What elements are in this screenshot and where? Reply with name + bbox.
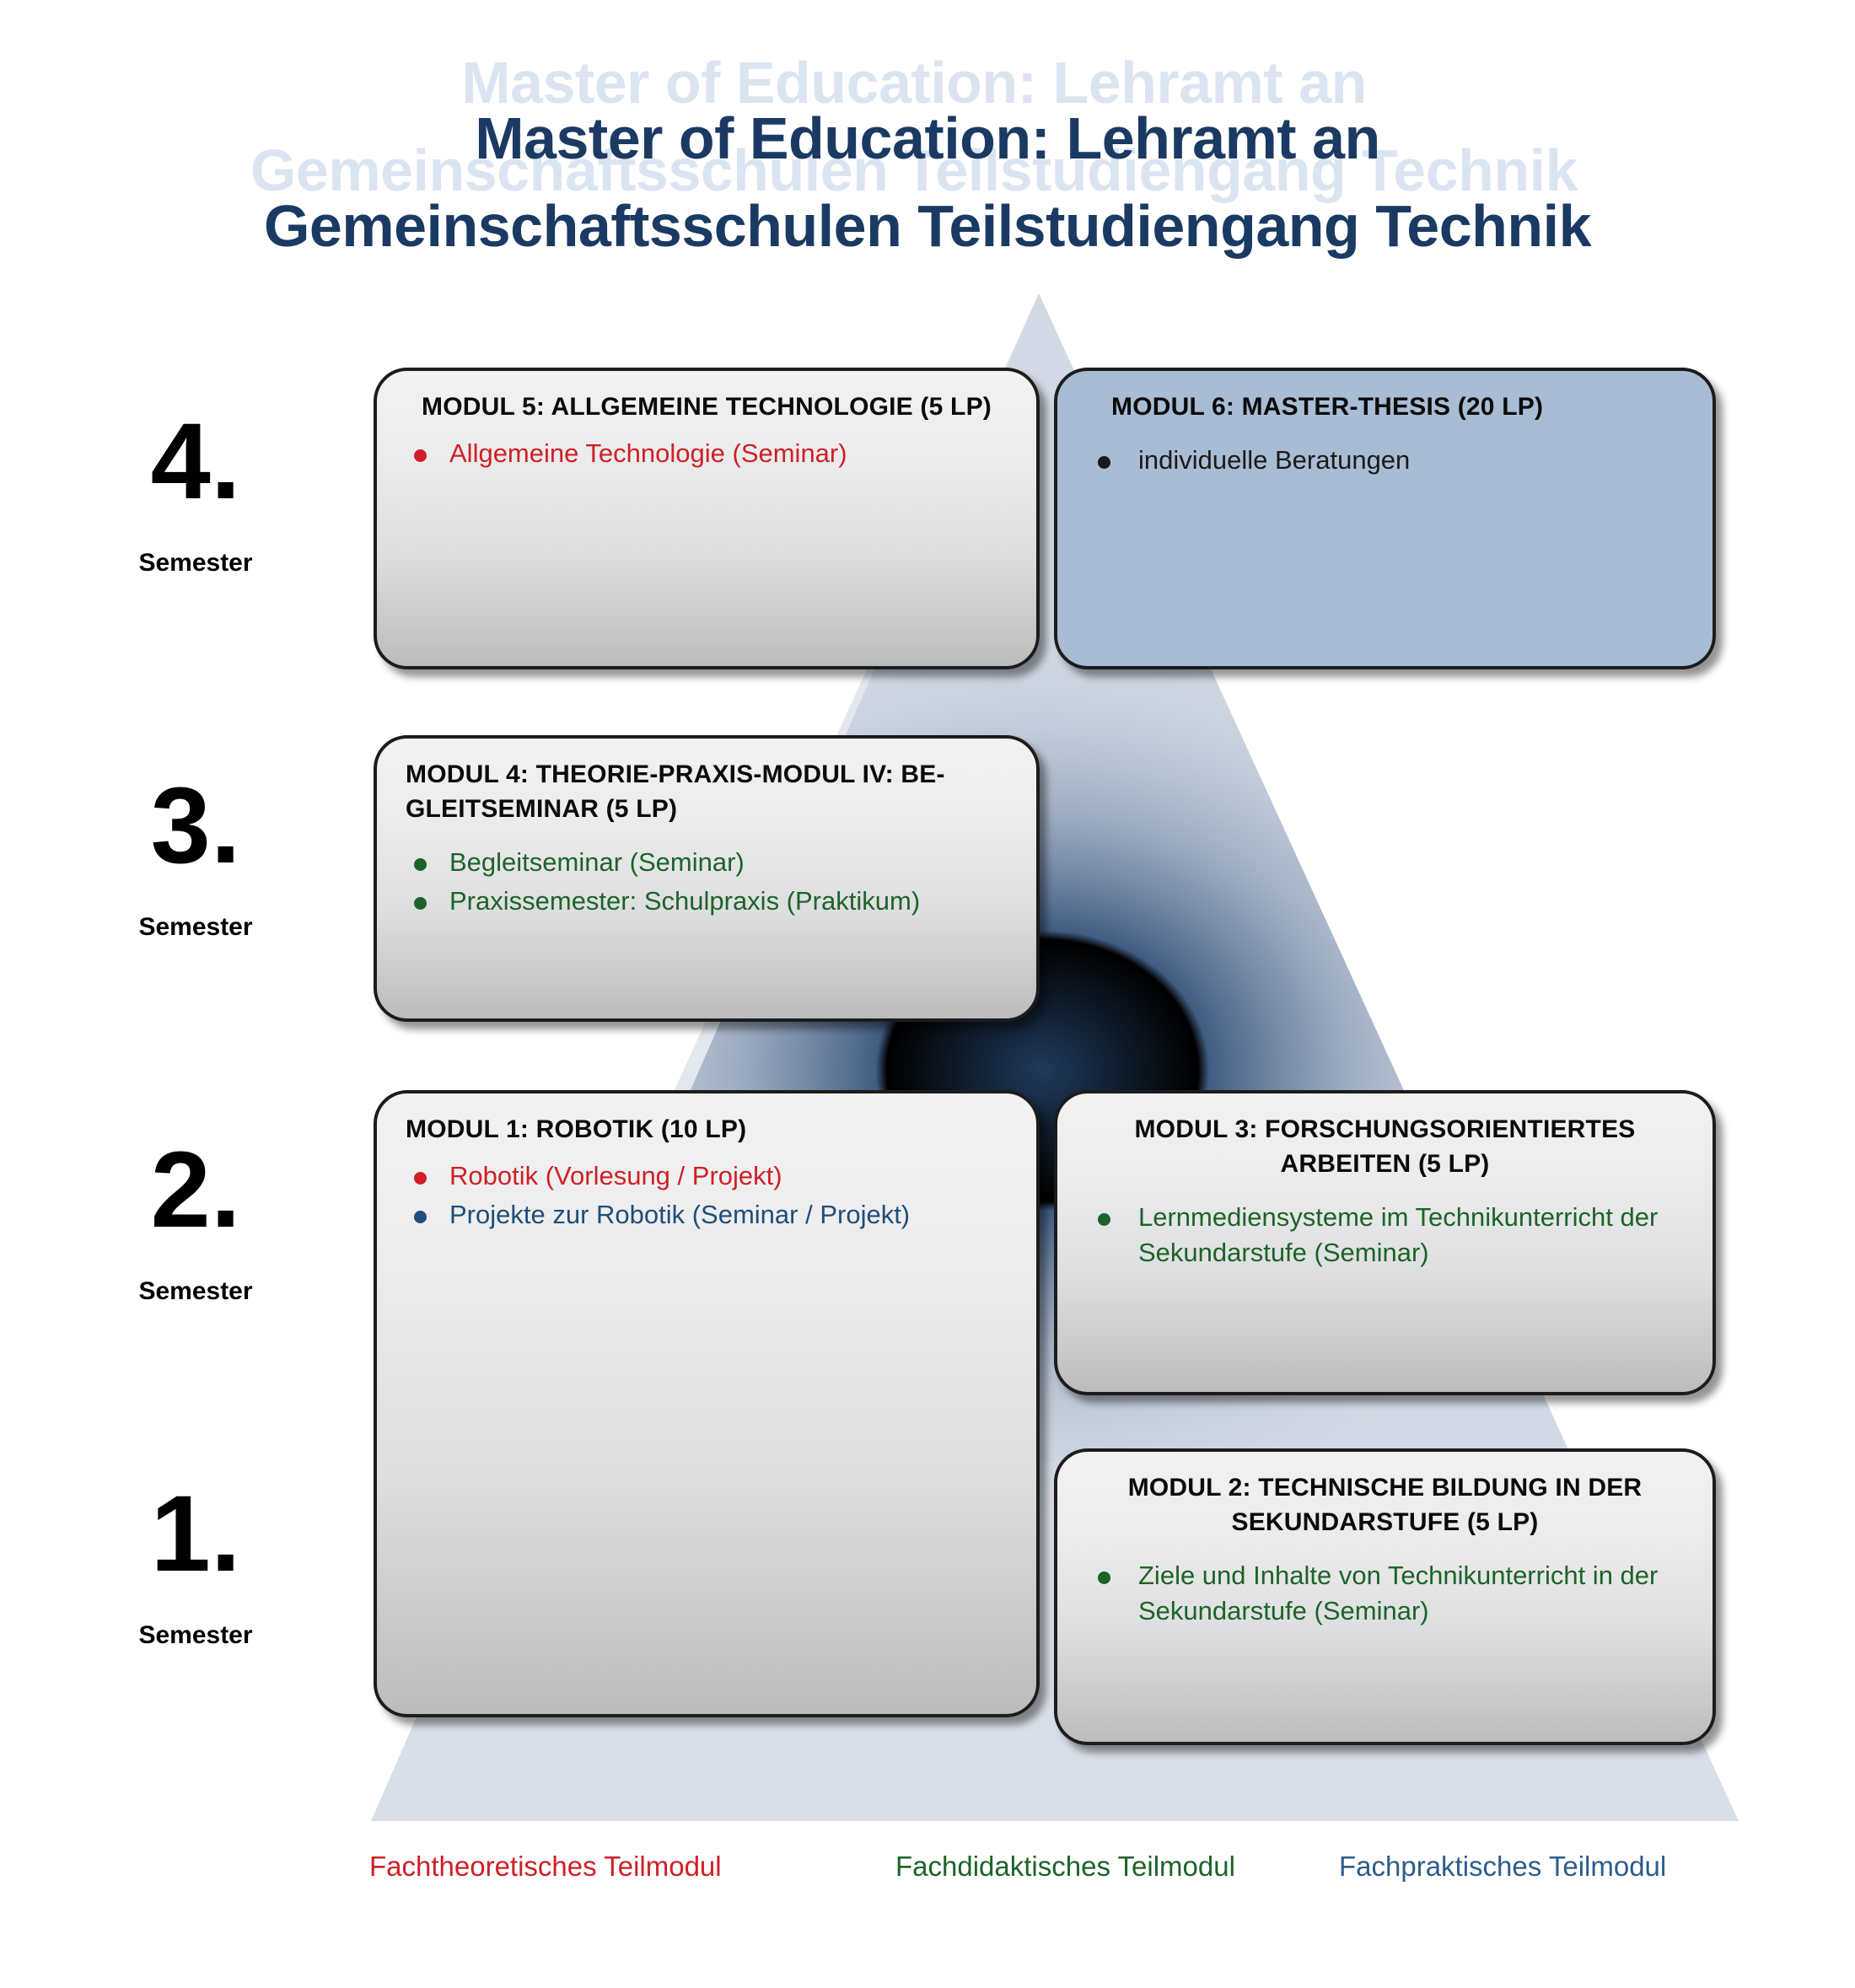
bullet-dot-icon bbox=[414, 897, 427, 910]
module-list-item: Allgemeine Technologie (Seminar) bbox=[407, 436, 1011, 471]
semester-word-2: Semester bbox=[69, 1276, 322, 1307]
diagram-canvas: Master of Education: Lehramt an Gemeinsc… bbox=[0, 0, 1855, 1988]
bullet-dot-icon bbox=[414, 449, 427, 462]
module-item-text: Robotik (Vorlesung / Projekt) bbox=[449, 1161, 782, 1190]
bullet-dot-icon bbox=[1098, 1213, 1110, 1226]
module-list-item: Praxissemester: Schulpraxis (Praktikum) bbox=[407, 884, 1011, 919]
page-title-line-2: Gemeinschaftsschulen Teilstudiengang Tec… bbox=[0, 182, 1855, 270]
legend-item-fachpraktisch: Fachpraktisches Teilmodul bbox=[1339, 1848, 1666, 1885]
module-title-modul-5: MODUL 5: ALLGEMEINE TECHNOLOGIE (5 LP) bbox=[377, 371, 1036, 424]
module-list-item: individuelle Beratungen bbox=[1088, 443, 1687, 478]
module-card-modul-4[interactable]: MODUL 4: THEORIE-PRAXIS-MODUL IV: BE-GLE… bbox=[374, 735, 1040, 1022]
bullet-dot-icon bbox=[414, 1172, 427, 1185]
module-item-text: individuelle Beratungen bbox=[1138, 445, 1410, 475]
legend-item-fachtheoretisch: Fachtheoretisches Teilmodul bbox=[369, 1848, 722, 1885]
module-item-list-modul-5: Allgemeine Technologie (Seminar) bbox=[377, 424, 1036, 471]
module-title-modul-3: MODUL 3: FORSCHUNGSORIENTIERTES ARBEITEN… bbox=[1057, 1093, 1713, 1181]
semester-number-4: 4. bbox=[69, 411, 322, 513]
bullet-dot-icon bbox=[414, 858, 427, 871]
module-item-text: Projekte zur Robotik (Seminar / Projekt) bbox=[449, 1200, 910, 1229]
bullet-dot-icon bbox=[414, 1211, 427, 1223]
module-card-modul-6[interactable]: MODUL 6: MASTER-THESIS (20 LP) individue… bbox=[1054, 368, 1716, 669]
module-item-text: Lernmediensysteme im Technikunterricht d… bbox=[1138, 1202, 1658, 1267]
module-item-list-modul-2: Ziele und Inhalte von Technikunterricht … bbox=[1057, 1539, 1713, 1629]
semester-number-1: 1. bbox=[69, 1484, 322, 1585]
semester-word-3: Semester bbox=[69, 912, 322, 943]
module-card-modul-5[interactable]: MODUL 5: ALLGEMEINE TECHNOLOGIE (5 LP) A… bbox=[374, 368, 1040, 669]
bullet-dot-icon bbox=[1098, 456, 1110, 469]
module-item-text: Begleitseminar (Seminar) bbox=[449, 847, 745, 877]
semester-label-2: 2. Semester bbox=[69, 1140, 322, 1307]
module-title-modul-2: MODUL 2: TECHNISCHE BILDUNG IN DER SEKUN… bbox=[1057, 1452, 1713, 1539]
module-card-modul-1[interactable]: MODUL 1: ROBOTIK (10 LP) Robotik (Vorles… bbox=[374, 1090, 1040, 1717]
module-card-modul-3[interactable]: MODUL 3: FORSCHUNGSORIENTIERTES ARBEITEN… bbox=[1054, 1090, 1716, 1395]
module-item-text: Praxissemester: Schulpraxis (Praktikum) bbox=[449, 886, 920, 916]
module-list-item: Robotik (Vorlesung / Projekt) bbox=[407, 1158, 1011, 1194]
legend-item-fachdidaktisch: Fachdidaktisches Teilmodul bbox=[895, 1848, 1235, 1885]
module-item-list-modul-1: Robotik (Vorlesung / Projekt) Projekte z… bbox=[377, 1147, 1036, 1233]
module-item-list-modul-6: individuelle Beratungen bbox=[1057, 424, 1713, 478]
semester-number-2: 2. bbox=[69, 1140, 322, 1241]
semester-label-4: 4. Semester bbox=[69, 411, 322, 578]
page-title: Master of Education: Lehramt an Gemeinsc… bbox=[0, 94, 1855, 270]
semester-word-4: Semester bbox=[69, 548, 322, 578]
module-list-item: Ziele und Inhalte von Technikunterricht … bbox=[1088, 1558, 1687, 1629]
module-title-modul-1: MODUL 1: ROBOTIK (10 LP) bbox=[377, 1093, 1036, 1147]
module-title-modul-6: MODUL 6: MASTER-THESIS (20 LP) bbox=[1057, 371, 1713, 424]
module-list-item: Projekte zur Robotik (Seminar / Projekt) bbox=[407, 1197, 1011, 1233]
page-title-line-1: Master of Education: Lehramt an bbox=[0, 94, 1855, 182]
module-item-text: Ziele und Inhalte von Technikunterricht … bbox=[1138, 1561, 1658, 1625]
module-item-list-modul-3: Lernmediensysteme im Technikunterricht d… bbox=[1057, 1181, 1713, 1271]
module-card-modul-2[interactable]: MODUL 2: TECHNISCHE BILDUNG IN DER SEKUN… bbox=[1054, 1448, 1716, 1745]
semester-label-1: 1. Semester bbox=[69, 1484, 322, 1651]
semester-number-3: 3. bbox=[69, 776, 322, 877]
semester-word-1: Semester bbox=[69, 1620, 322, 1651]
legend: Fachtheoretisches Teilmodul Fachdidaktis… bbox=[0, 1848, 1855, 1899]
module-item-text: Allgemeine Technologie (Seminar) bbox=[449, 438, 847, 468]
module-list-item: Begleitseminar (Seminar) bbox=[407, 845, 1011, 880]
semester-label-3: 3. Semester bbox=[69, 776, 322, 943]
module-list-item: Lernmediensysteme im Technikunterricht d… bbox=[1088, 1200, 1687, 1271]
module-item-list-modul-4: Begleitseminar (Seminar) Praxissemester:… bbox=[377, 826, 1036, 919]
module-title-modul-4: MODUL 4: THEORIE-PRAXIS-MODUL IV: BE-GLE… bbox=[377, 739, 1036, 826]
bullet-dot-icon bbox=[1098, 1572, 1110, 1584]
